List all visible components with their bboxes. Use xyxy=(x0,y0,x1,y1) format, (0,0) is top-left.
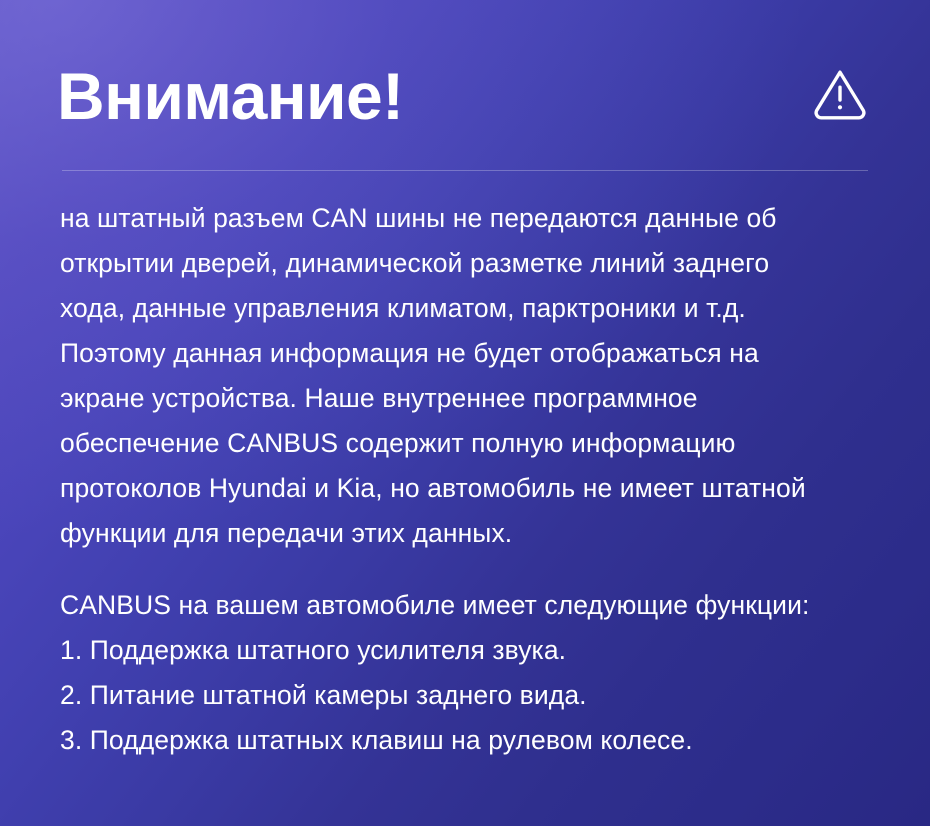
paragraph-line: обеспечение CANBUS содержит полную инфор… xyxy=(60,421,880,466)
header-divider xyxy=(62,170,868,171)
slide-header: Внимание! xyxy=(57,48,869,144)
warning-slide: Внимание! на штатный разъем CAN шины не … xyxy=(0,0,930,826)
list-item: 3. Поддержка штатных клавиш на рулевом к… xyxy=(60,718,880,763)
list-item-number: 3. xyxy=(60,725,90,755)
paragraph-line: экране устройства. Наше внутреннее прогр… xyxy=(60,376,880,421)
functions-list: 1. Поддержка штатного усилителя звука. 2… xyxy=(60,628,880,763)
functions-section: CANBUS на вашем автомобиле имеет следующ… xyxy=(60,583,880,763)
list-item-label: Поддержка штатного усилителя звука. xyxy=(90,635,566,665)
paragraph-line: на штатный разъем CAN шины не передаются… xyxy=(60,196,880,241)
list-item-label: Питание штатной камеры заднего вида. xyxy=(90,680,587,710)
page-title: Внимание! xyxy=(57,48,403,144)
list-item: 2. Питание штатной камеры заднего вида. xyxy=(60,673,880,718)
list-item-number: 2. xyxy=(60,680,90,710)
paragraph-line: открытии дверей, динамической разметке л… xyxy=(60,241,880,286)
functions-intro: CANBUS на вашем автомобиле имеет следующ… xyxy=(60,583,880,628)
list-item-label: Поддержка штатных клавиш на рулевом коле… xyxy=(90,725,693,755)
warning-triangle-icon xyxy=(811,64,869,122)
paragraph-line: Поэтому данная информация не будет отобр… xyxy=(60,331,880,376)
paragraph-line: функции для передачи этих данных. xyxy=(60,511,880,556)
warning-paragraph: на штатный разъем CAN шины не передаются… xyxy=(60,196,880,556)
paragraph-line: хода, данные управления климатом, парктр… xyxy=(60,286,880,331)
paragraph-line: протоколов Hyundai и Kia, но автомобиль … xyxy=(60,466,880,511)
list-item-number: 1. xyxy=(60,635,90,665)
list-item: 1. Поддержка штатного усилителя звука. xyxy=(60,628,880,673)
slide-body: на штатный разъем CAN шины не передаются… xyxy=(60,196,880,763)
